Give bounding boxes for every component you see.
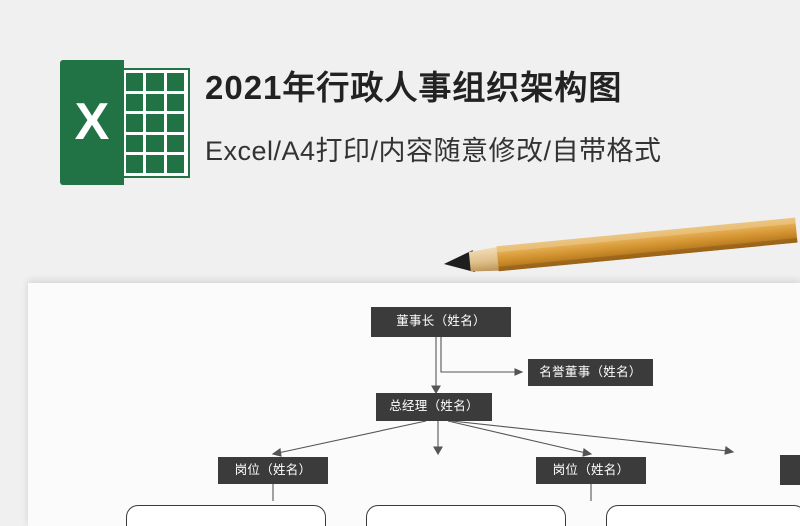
excel-logo-grid xyxy=(126,73,184,173)
excel-logo-letter: X xyxy=(60,60,124,185)
org-node-post-right[interactable]: 岗位（姓名） xyxy=(536,457,646,484)
org-node-honorary[interactable]: 名誉董事（姓名） xyxy=(528,359,653,386)
org-node-gm[interactable]: 总经理（姓名） xyxy=(376,393,492,421)
header-banner: X 2021年行政人事组织架构图 Excel/A4打印/内容随意修改/自带格式 xyxy=(0,0,800,270)
page-subtitle: Excel/A4打印/内容随意修改/自带格式 xyxy=(205,132,785,170)
org-node-post-edge[interactable] xyxy=(780,455,800,485)
spreadsheet-sheet[interactable]: 董事长（姓名） 名誉董事（姓名） 总经理（姓名） 岗位（姓名） 岗位（姓名） xyxy=(28,283,800,526)
org-chart: 董事长（姓名） 名誉董事（姓名） 总经理（姓名） 岗位（姓名） 岗位（姓名） xyxy=(28,283,800,526)
page-title: 2021年行政人事组织架构图 xyxy=(205,66,785,110)
excel-logo-icon: X xyxy=(60,60,190,185)
org-node-box-left[interactable] xyxy=(126,505,326,526)
org-node-chairman[interactable]: 董事长（姓名） xyxy=(371,307,511,337)
org-node-box-mid[interactable] xyxy=(366,505,566,526)
title-block: 2021年行政人事组织架构图 Excel/A4打印/内容随意修改/自带格式 xyxy=(205,66,785,170)
org-node-box-right[interactable] xyxy=(606,505,800,526)
screenshot-root: X 2021年行政人事组织架构图 Excel/A4打印/内容随意修改/自带格式 xyxy=(0,0,800,526)
org-node-post-left[interactable]: 岗位（姓名） xyxy=(218,457,328,484)
